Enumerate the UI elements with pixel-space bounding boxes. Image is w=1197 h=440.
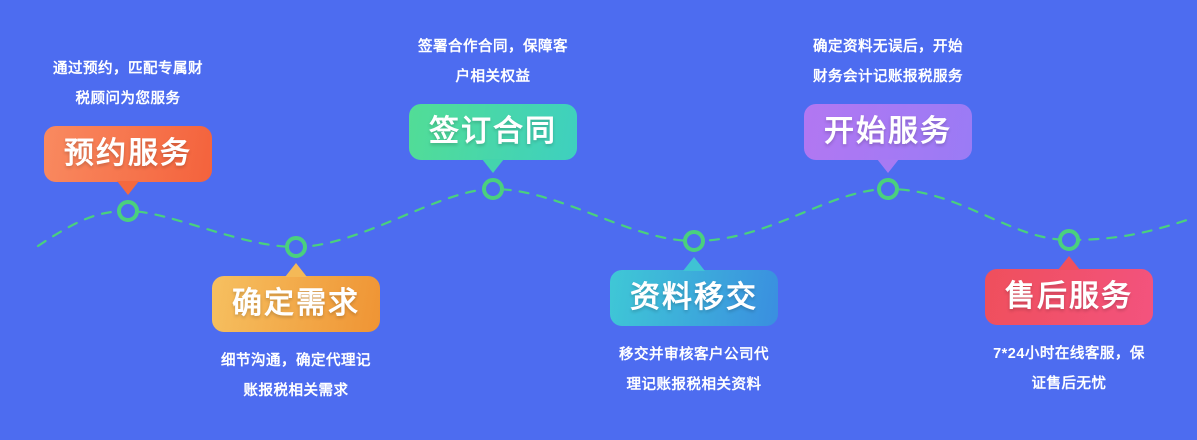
step-caption-3: 签署合作合同，保障客户相关权益 <box>378 32 608 92</box>
step-caption-line: 7*24小时在线客服，保 <box>954 339 1184 369</box>
step-badge-2[interactable]: 确定需求 <box>212 276 380 332</box>
wave-node-2 <box>285 236 307 258</box>
step-caption-line: 税顾问为您服务 <box>13 84 243 114</box>
step-badge-label-6: 售后服务 <box>1005 282 1133 312</box>
wave-node-6 <box>1058 229 1080 251</box>
step-badge-5[interactable]: 开始服务 <box>804 104 972 160</box>
step-caption-line: 签署合作合同，保障客 <box>378 32 608 62</box>
step-caption-line: 细节沟通，确定代理记 <box>181 346 411 376</box>
step-caption-6: 7*24小时在线客服，保证售后无忧 <box>954 339 1184 399</box>
wave-node-5 <box>877 178 899 200</box>
step-caption-line: 确定资料无误后，开始 <box>773 32 1003 62</box>
step-badge-label-5: 开始服务 <box>824 117 952 147</box>
wave-node-4 <box>683 230 705 252</box>
step-badge-label-3: 签订合同 <box>429 117 557 147</box>
step-badge-1[interactable]: 预约服务 <box>44 126 212 182</box>
step-caption-5: 确定资料无误后，开始财务会计记账报税服务 <box>773 32 1003 92</box>
step-caption-1: 通过预约，匹配专属财税顾问为您服务 <box>13 54 243 114</box>
step-caption-line: 户相关权益 <box>378 62 608 92</box>
step-caption-line: 移交并审核客户公司代 <box>579 340 809 370</box>
step-caption-line: 理记账报税相关资料 <box>579 370 809 400</box>
step-badge-label-1: 预约服务 <box>64 139 192 169</box>
wave-node-3 <box>482 178 504 200</box>
step-badge-6[interactable]: 售后服务 <box>985 269 1153 325</box>
step-caption-line: 账报税相关需求 <box>181 376 411 406</box>
step-caption-line: 通过预约，匹配专属财 <box>13 54 243 84</box>
step-caption-line: 证售后无忧 <box>954 369 1184 399</box>
process-flow-infographic: 预约服务通过预约，匹配专属财税顾问为您服务确定需求细节沟通，确定代理记账报税相关… <box>0 0 1197 440</box>
step-badge-3[interactable]: 签订合同 <box>409 104 577 160</box>
wave-dashed-curve <box>38 189 1190 247</box>
step-badge-label-4: 资料移交 <box>630 283 758 313</box>
step-badge-4[interactable]: 资料移交 <box>610 270 778 326</box>
step-badge-label-2: 确定需求 <box>232 289 360 319</box>
step-caption-4: 移交并审核客户公司代理记账报税相关资料 <box>579 340 809 400</box>
step-caption-2: 细节沟通，确定代理记账报税相关需求 <box>181 346 411 406</box>
wave-node-1 <box>117 200 139 222</box>
step-caption-line: 财务会计记账报税服务 <box>773 62 1003 92</box>
